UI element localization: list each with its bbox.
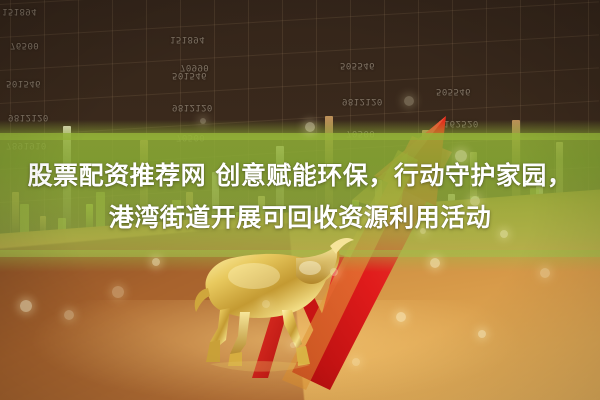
bokeh-dot	[540, 268, 550, 278]
bokeh-dot	[64, 310, 74, 320]
headline-text: 股票配资推荐网 创意赋能环保，行动守护家园， 港湾街道开展可回收资源利用活动	[0, 155, 600, 239]
bokeh-dot	[396, 312, 406, 322]
bokeh-dot	[20, 300, 32, 312]
bokeh-dot	[404, 96, 414, 106]
bokeh-dot	[352, 358, 360, 366]
banner-image: 1518945015469812120765007891910151894501…	[0, 0, 600, 400]
bokeh-dot	[200, 118, 206, 124]
bokeh-dot	[262, 300, 270, 308]
bokeh-dot	[290, 342, 296, 348]
bokeh-dot	[478, 330, 486, 338]
bokeh-dot	[152, 258, 160, 266]
headline-line-1: 股票配资推荐网 创意赋能环保，行动守护家园，	[28, 161, 573, 190]
bokeh-dot	[305, 122, 315, 132]
headline-line-2: 港湾街道开展可回收资源利用活动	[0, 197, 600, 239]
bokeh-dot	[112, 286, 124, 298]
bokeh-dot	[330, 268, 338, 276]
bokeh-dot	[430, 258, 440, 268]
